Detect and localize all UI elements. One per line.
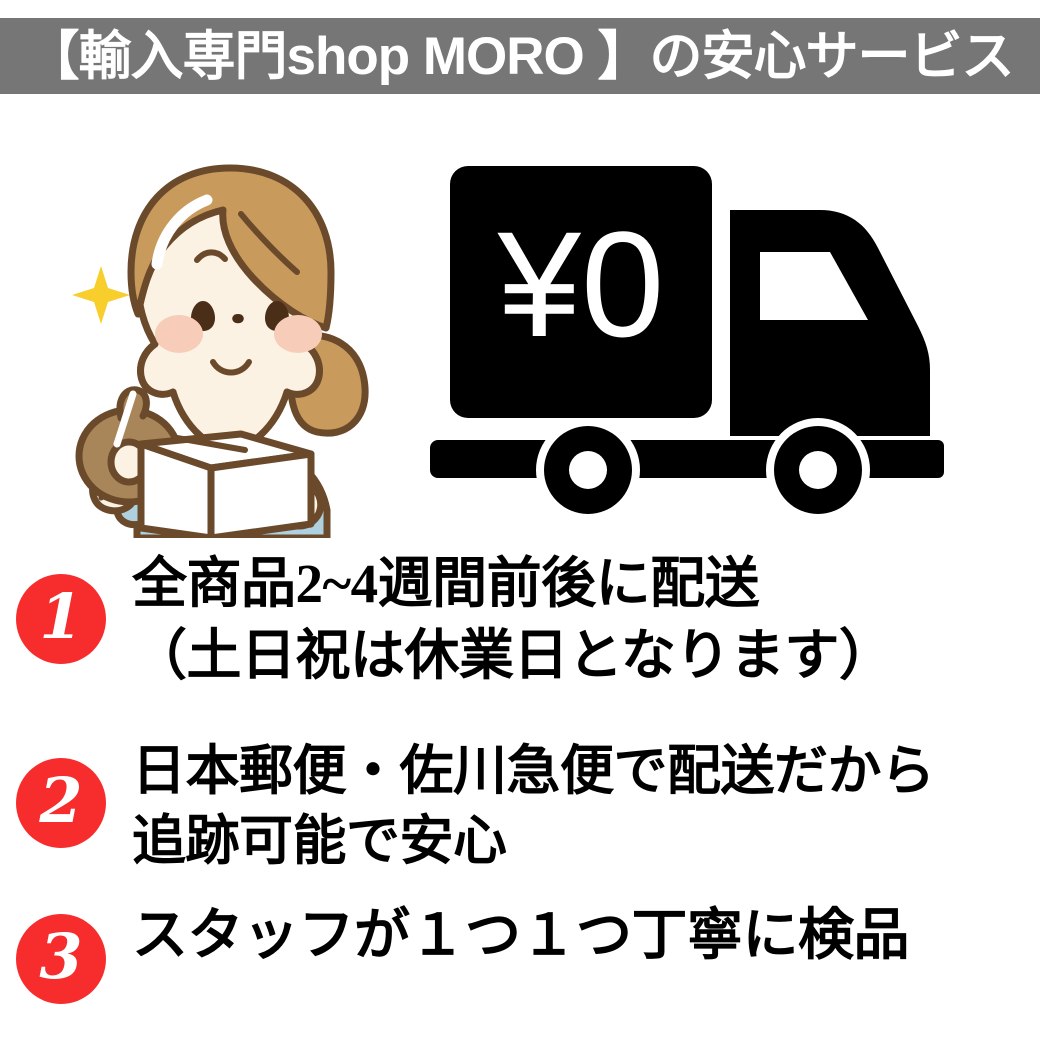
header-bar: 【輸入専門shop MORO 】の安心サービス [0,18,1040,94]
page-title: 【輸入専門shop MORO 】の安心サービス [27,30,1014,83]
badge-number-1: 1 [16,574,106,664]
feature-item-2-text: 日本郵便・佐川急便で配送だから 追跡可能で安心 [132,736,1040,876]
illustration-zone: ¥0 [0,118,1040,538]
blush-left [155,315,203,353]
badge-number-2: 2 [16,758,106,848]
sparkle-icon [72,266,130,324]
nose [232,314,244,323]
badge-number-2-label: 2 [39,770,82,832]
free-shipping-label: ¥0 [497,200,665,368]
feature-item-3: 3 スタッフが１つ１つ丁寧に検品 [0,896,1040,1004]
delivery-truck-icon: ¥0 [420,140,1020,530]
badge-number-3-label: 3 [39,926,82,988]
woman-inspecting-package-illustration [45,138,415,538]
blush-right [274,315,322,353]
feature-item-1-text: 全商品2~4週間前後に配送 （土日祝は休業日となります） [132,548,1040,691]
feature-item-2: 2 日本郵便・佐川急便で配送だから 追跡可能で安心 [0,736,1040,876]
cardboard-box [141,434,311,538]
feature-item-3-text: スタッフが１つ１つ丁寧に検品 [132,900,1040,973]
badge-number-3: 3 [16,914,106,1004]
feature-item-1: 1 全商品2~4週間前後に配送 （土日祝は休業日となります） [0,548,1040,691]
badge-number-1-label: 1 [39,586,82,648]
